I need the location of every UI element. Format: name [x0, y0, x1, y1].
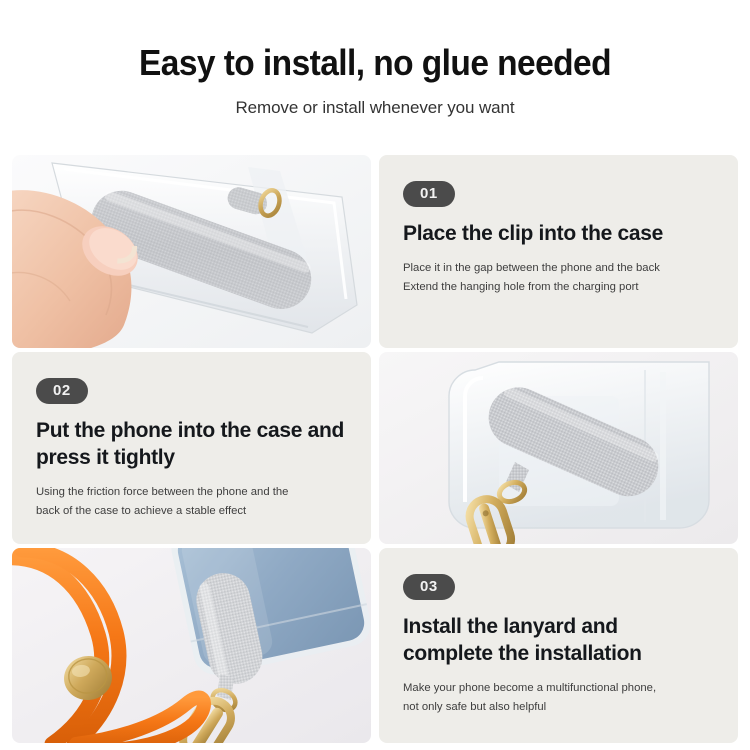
step-photo-1	[12, 155, 371, 348]
step-photo-3	[12, 548, 371, 743]
step-desc-01: Place it in the gap between the phone an…	[403, 259, 714, 298]
step-photo-2	[379, 352, 738, 544]
step-badge-03: 03	[403, 574, 455, 600]
step-title-01: Place the clip into the case	[403, 221, 713, 248]
infographic-page: Easy to install, no glue needed Remove o…	[0, 0, 750, 750]
photo-case-clip-carabiner	[379, 352, 738, 544]
step-desc-02: Using the friction force between the pho…	[36, 483, 347, 522]
step-desc-02-line1: Using the friction force between the pho…	[36, 483, 347, 502]
step-title-02: Put the phone into the case and press it…	[36, 418, 346, 472]
step-desc-02-line2: back of the case to achieve a stable eff…	[36, 502, 347, 521]
photo-lanyard-attached-phone	[12, 548, 371, 743]
step-badge-01: 01	[403, 181, 455, 207]
step-desc-03: Make your phone become a multifunctional…	[403, 679, 714, 718]
step-desc-01-line1: Place it in the gap between the phone an…	[403, 259, 714, 278]
step-title-03: Install the lanyard and complete the ins…	[403, 614, 713, 668]
photo-hand-clip-case	[12, 155, 371, 348]
step-text-2: 02 Put the phone into the case and press…	[12, 352, 371, 544]
page-subtitle: Remove or install whenever you want	[0, 98, 750, 118]
step-desc-01-line2: Extend the hanging hole from the chargin…	[403, 278, 714, 297]
step-desc-03-line2: not only safe but also helpful	[403, 698, 714, 717]
step-text-3: 03 Install the lanyard and complete the …	[379, 548, 738, 743]
steps-grid: 01 Place the clip into the case Place it…	[12, 155, 738, 743]
step-badge-02: 02	[36, 378, 88, 404]
page-title: Easy to install, no glue needed	[26, 44, 724, 82]
step-text-1: 01 Place the clip into the case Place it…	[379, 155, 738, 348]
header: Easy to install, no glue needed Remove o…	[0, 0, 750, 118]
step-desc-03-line1: Make your phone become a multifunctional…	[403, 679, 714, 698]
